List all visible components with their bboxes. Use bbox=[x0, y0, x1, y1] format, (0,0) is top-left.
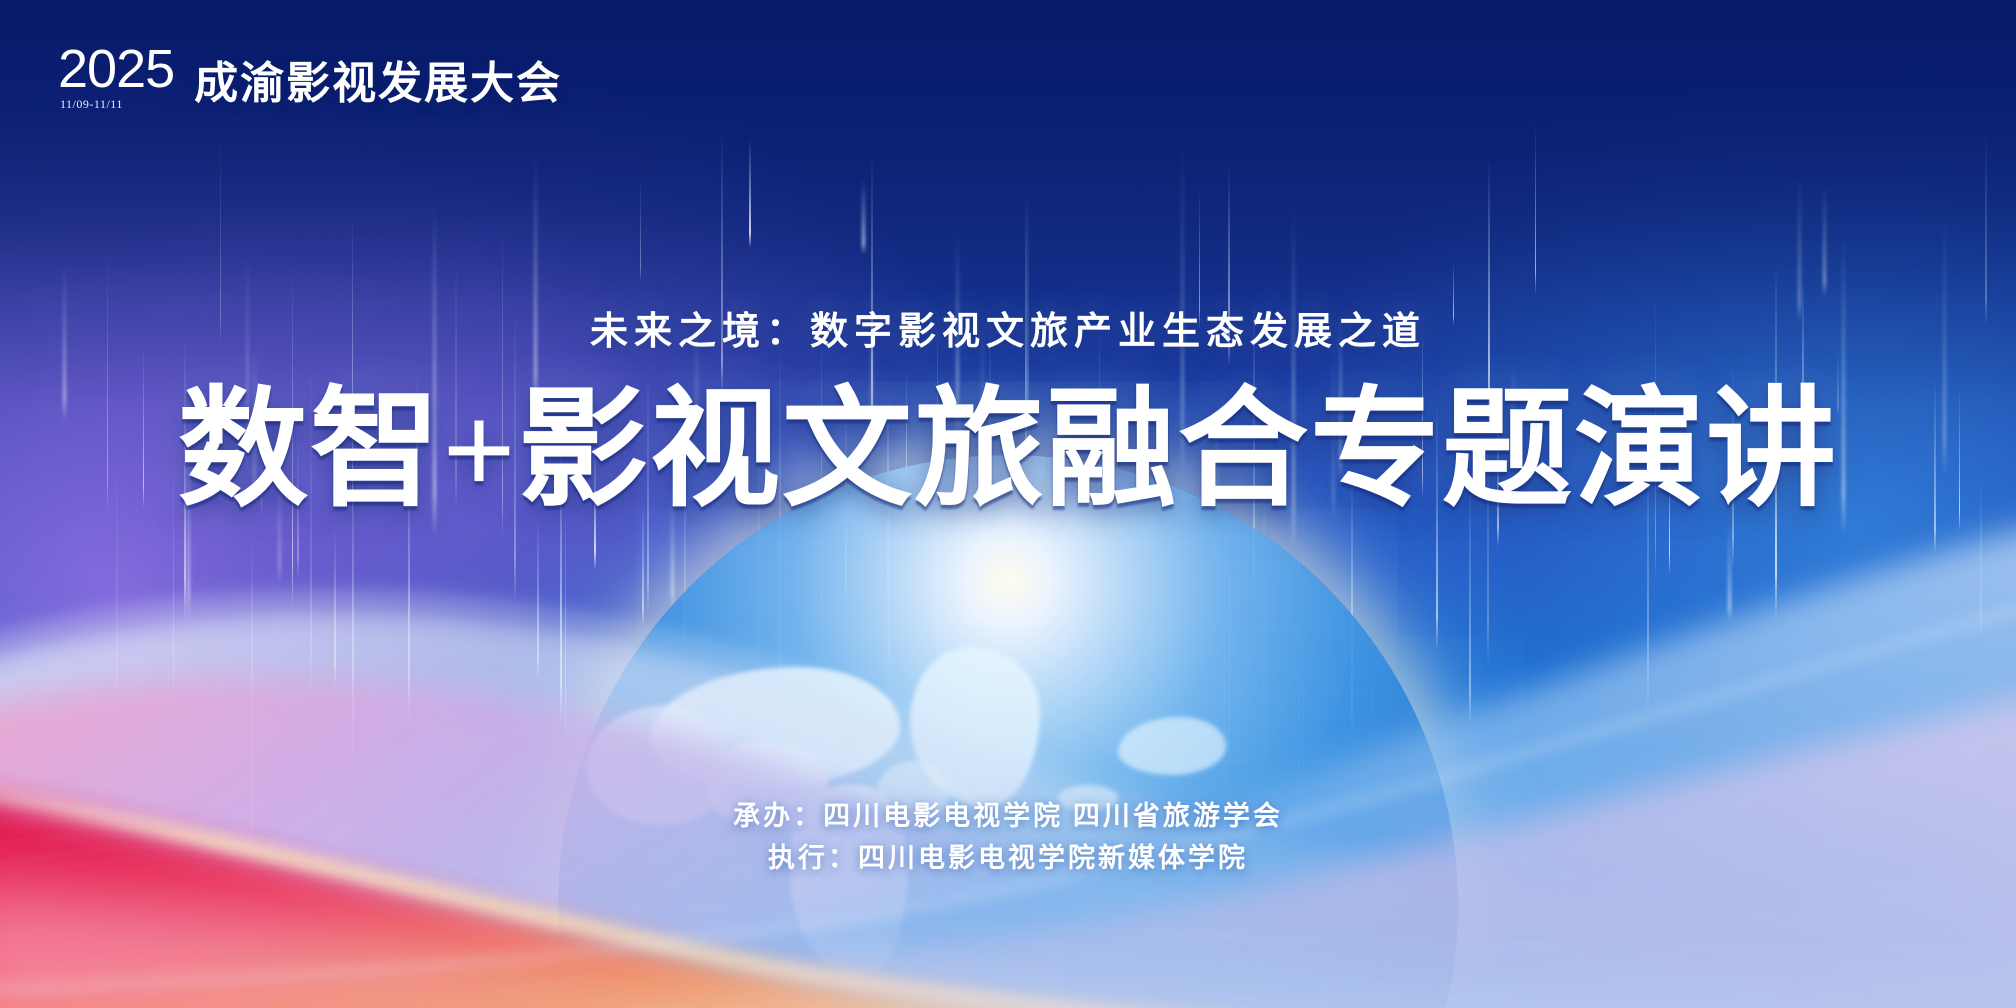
conference-name: 成渝影视发展大会 bbox=[194, 62, 562, 112]
credit-line-organizer: 承办：四川电影电视学院 四川省旅游学会 bbox=[0, 796, 2016, 838]
credit-line-executor: 执行：四川电影电视学院新媒体学院 bbox=[0, 838, 2016, 880]
logo-year-block: 2025 11/09-11/11 bbox=[58, 44, 174, 112]
event-logo[interactable]: 2025 11/09-11/11 成渝影视发展大会 bbox=[58, 44, 562, 112]
poster-canvas: 2025 11/09-11/11 成渝影视发展大会 未来之境：数字影视文旅产业生… bbox=[0, 0, 2016, 1008]
logo-year: 2025 bbox=[58, 44, 174, 95]
headline-block: 未来之境：数字影视文旅产业生态发展之道 数智+影视文旅融合专题演讲 bbox=[0, 300, 2016, 521]
logo-date-range: 11/09-11/11 bbox=[58, 97, 174, 112]
credits-block: 承办：四川电影电视学院 四川省旅游学会 执行：四川电影电视学院新媒体学院 bbox=[0, 796, 2016, 880]
poster-subtitle: 未来之境：数字影视文旅产业生态发展之道 bbox=[0, 300, 2016, 355]
poster-headline: 数智+影视文旅融合专题演讲 bbox=[0, 381, 2016, 521]
